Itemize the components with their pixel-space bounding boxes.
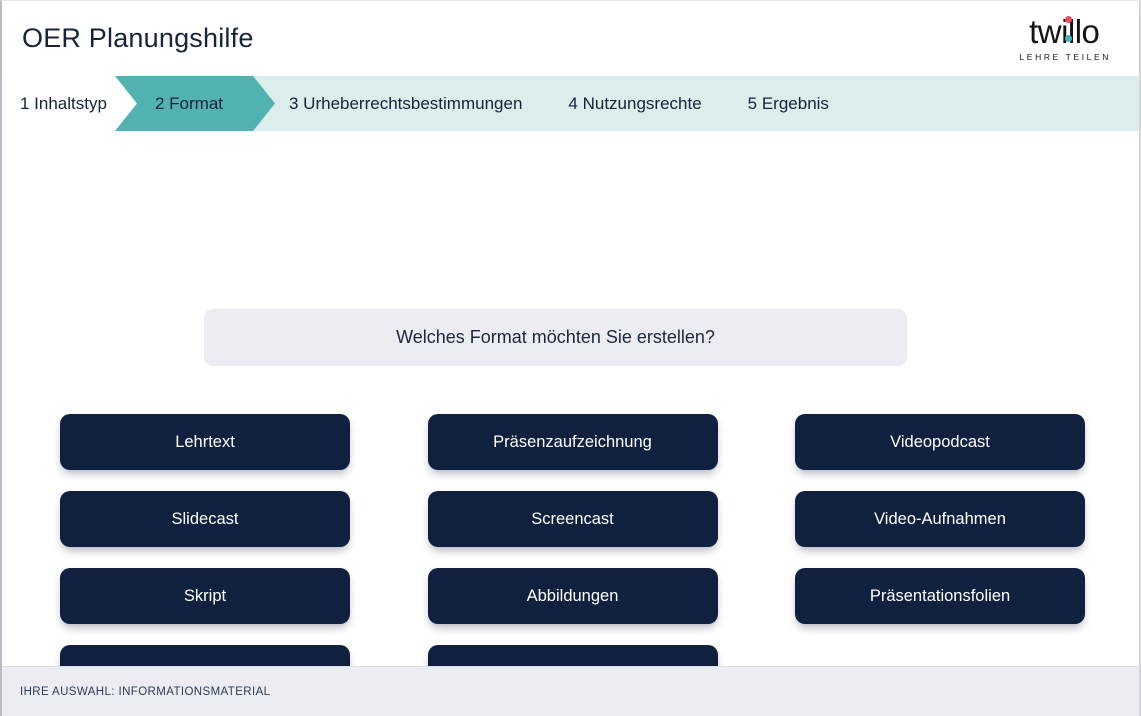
selection-summary: IHRE AUSWAHL: INFORMATIONSMATERIAL (20, 686, 270, 698)
main-content: Welches Format möchten Sie erstellen? Le… (2, 131, 1139, 716)
option-button-skript[interactable]: Skript (60, 568, 350, 624)
option-button-video-aufnahmen[interactable]: Video-Aufnahmen (795, 491, 1085, 547)
step-label: 1 Inhaltstyp (20, 94, 107, 114)
logo-wordmark: twillo (1029, 15, 1099, 49)
option-button-screencast[interactable]: Screencast (428, 491, 718, 547)
app-header: OER Planungshilfe twillo LEHRE TEILEN (2, 1, 1139, 76)
step-item-5-ergebnis[interactable]: 5 Ergebnis (726, 76, 853, 131)
selection-footer: IHRE AUSWAHL: INFORMATIONSMATERIAL (2, 666, 1139, 716)
page-title: OER Planungshilfe (22, 25, 254, 52)
option-button-videopodcast[interactable]: Videopodcast (795, 414, 1085, 470)
step-label: 5 Ergebnis (748, 94, 829, 114)
options-column-1: Lehrtext Slidecast Skript Infografik (60, 414, 350, 701)
step-item-1-inhaltstyp[interactable]: 1 Inhaltstyp (2, 76, 137, 131)
app-window: OER Planungshilfe twillo LEHRE TEILEN 1 … (0, 0, 1141, 716)
option-button-praesenzaufzeichnung[interactable]: Präsenzaufzeichnung (428, 414, 718, 470)
option-button-lehrtext[interactable]: Lehrtext (60, 414, 350, 470)
step-breadcrumb: 1 Inhaltstyp 2 Format 3 Urheberrechtsbes… (2, 76, 1139, 131)
option-button-praesentationsfolien[interactable]: Präsentationsfolien (795, 568, 1085, 624)
question-text: Welches Format möchten Sie erstellen? (396, 327, 715, 348)
twillo-logo: twillo LEHRE TEILEN (1017, 15, 1117, 62)
step-label: 4 Nutzungsrechte (568, 94, 701, 114)
options-column-3: Videopodcast Video-Aufnahmen Präsentatio… (795, 414, 1085, 701)
question-banner: Welches Format möchten Sie erstellen? (204, 309, 907, 366)
logo-tagline: LEHRE TEILEN (1017, 52, 1111, 62)
step-label: 2 Format (155, 94, 223, 114)
logo-dot-teal-icon (1065, 35, 1072, 42)
options-column-2: Präsenzaufzeichnung Screencast Abbildung… (428, 414, 718, 701)
option-button-abbildungen[interactable]: Abbildungen (428, 568, 718, 624)
step-item-2-format[interactable]: 2 Format (115, 76, 275, 131)
logo-dot-red-icon (1065, 16, 1072, 23)
option-button-slidecast[interactable]: Slidecast (60, 491, 350, 547)
step-item-4-nutzungsrechte[interactable]: 4 Nutzungsrechte (546, 76, 725, 131)
step-item-3-urheberrechtsbestimmungen[interactable]: 3 Urheberrechtsbestimmungen (271, 76, 546, 131)
step-label: 3 Urheberrechtsbestimmungen (289, 94, 522, 114)
